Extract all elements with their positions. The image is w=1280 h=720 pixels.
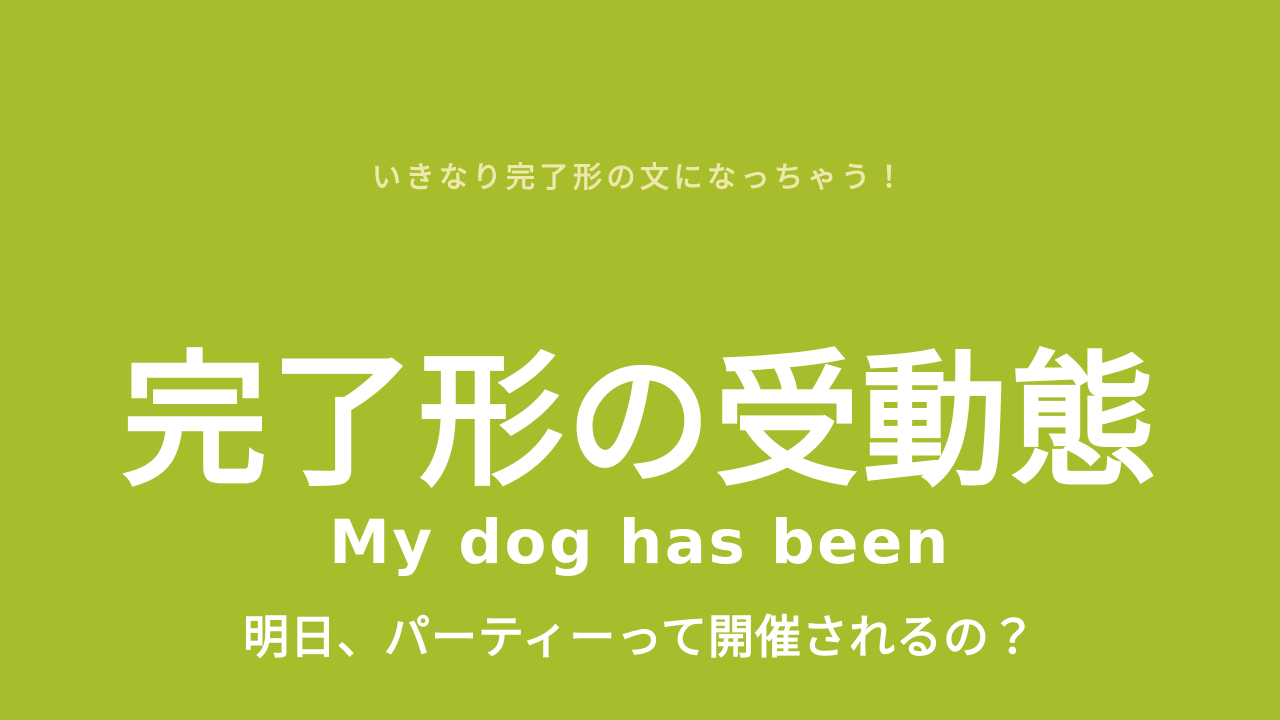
example-sentence-english: My dog has been — [0, 505, 1280, 581]
kicker-text: いきなり完了形の文になっちゃう！ — [0, 157, 1280, 197]
page-title: 完了形の受動態 — [0, 336, 1280, 508]
slide-canvas: いきなり完了形の文になっちゃう！ 完了形の受動態 My dog has been… — [0, 0, 1280, 720]
example-sentence-japanese: 明日、パーティーって開催されるの？ — [0, 606, 1280, 668]
